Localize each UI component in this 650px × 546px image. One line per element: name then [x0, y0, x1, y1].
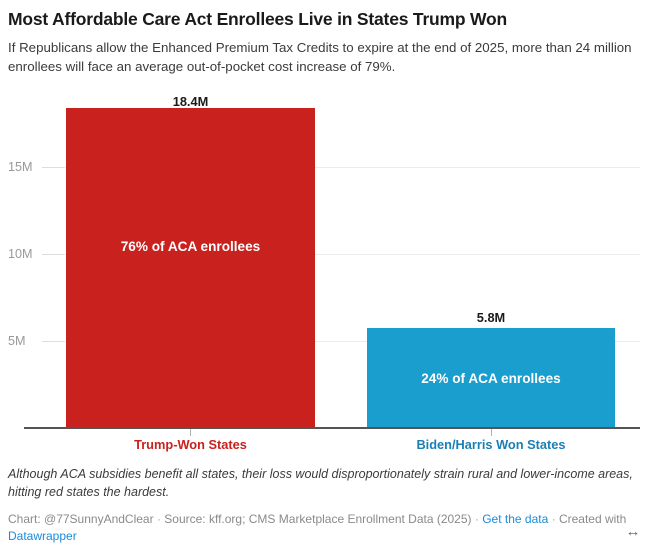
- x-tick-biden: [491, 429, 492, 436]
- footer-credits: Chart: @77SunnyAndClear · Source: kff.or…: [8, 511, 642, 546]
- category-label-biden: Biden/Harris Won States: [367, 437, 615, 452]
- get-the-data-link[interactable]: Get the data: [482, 512, 548, 526]
- credit-source: Source: kff.org; CMS Marketplace Enrollm…: [164, 512, 471, 526]
- chart-area: 15M 10M 5M 18.4M 5.8M 76% of ACA enrolle…: [0, 88, 650, 448]
- bar-biden-harris-won-states[interactable]: 24% of ACA enrollees: [367, 328, 615, 427]
- resize-horizontal-icon[interactable]: ↔: [622, 523, 644, 541]
- datawrapper-link[interactable]: Datawrapper: [8, 529, 77, 543]
- credit-separator: ·: [475, 512, 479, 526]
- category-label-trump: Trump-Won States: [66, 437, 315, 452]
- y-axis-label-15m: 15M: [8, 160, 33, 174]
- bar-inner-label-biden: 24% of ACA enrollees: [367, 371, 615, 386]
- credit-separator: ·: [157, 512, 161, 526]
- chart-footer: Although ACA subsidies benefit all state…: [8, 466, 642, 546]
- y-axis-label-5m: 5M: [8, 334, 26, 348]
- bar-trump-won-states[interactable]: 76% of ACA enrollees: [66, 108, 315, 427]
- footer-note: Although ACA subsidies benefit all state…: [8, 466, 642, 501]
- chart-header: Most Affordable Care Act Enrollees Live …: [0, 0, 650, 76]
- x-axis-baseline: [24, 427, 640, 429]
- y-axis-label-10m: 10M: [8, 247, 33, 261]
- gridline-tick-stub: [42, 341, 64, 342]
- x-tick-trump: [190, 429, 191, 436]
- credit-created-with: Created with: [559, 512, 626, 526]
- chart-subtitle: If Republicans allow the Enhanced Premiu…: [8, 39, 633, 77]
- credit-author: Chart: @77SunnyAndClear: [8, 512, 154, 526]
- credit-separator: ·: [552, 512, 556, 526]
- bar-inner-label-trump: 76% of ACA enrollees: [66, 239, 315, 254]
- plot-region: 15M 10M 5M 18.4M 5.8M 76% of ACA enrolle…: [0, 88, 650, 448]
- bar-value-trump: 18.4M: [66, 94, 315, 109]
- chart-page: Most Affordable Care Act Enrollees Live …: [0, 0, 650, 545]
- bar-value-biden: 5.8M: [367, 310, 615, 325]
- gridline-tick-stub: [42, 254, 64, 255]
- page-title: Most Affordable Care Act Enrollees Live …: [8, 9, 640, 30]
- gridline-tick-stub: [42, 167, 64, 168]
